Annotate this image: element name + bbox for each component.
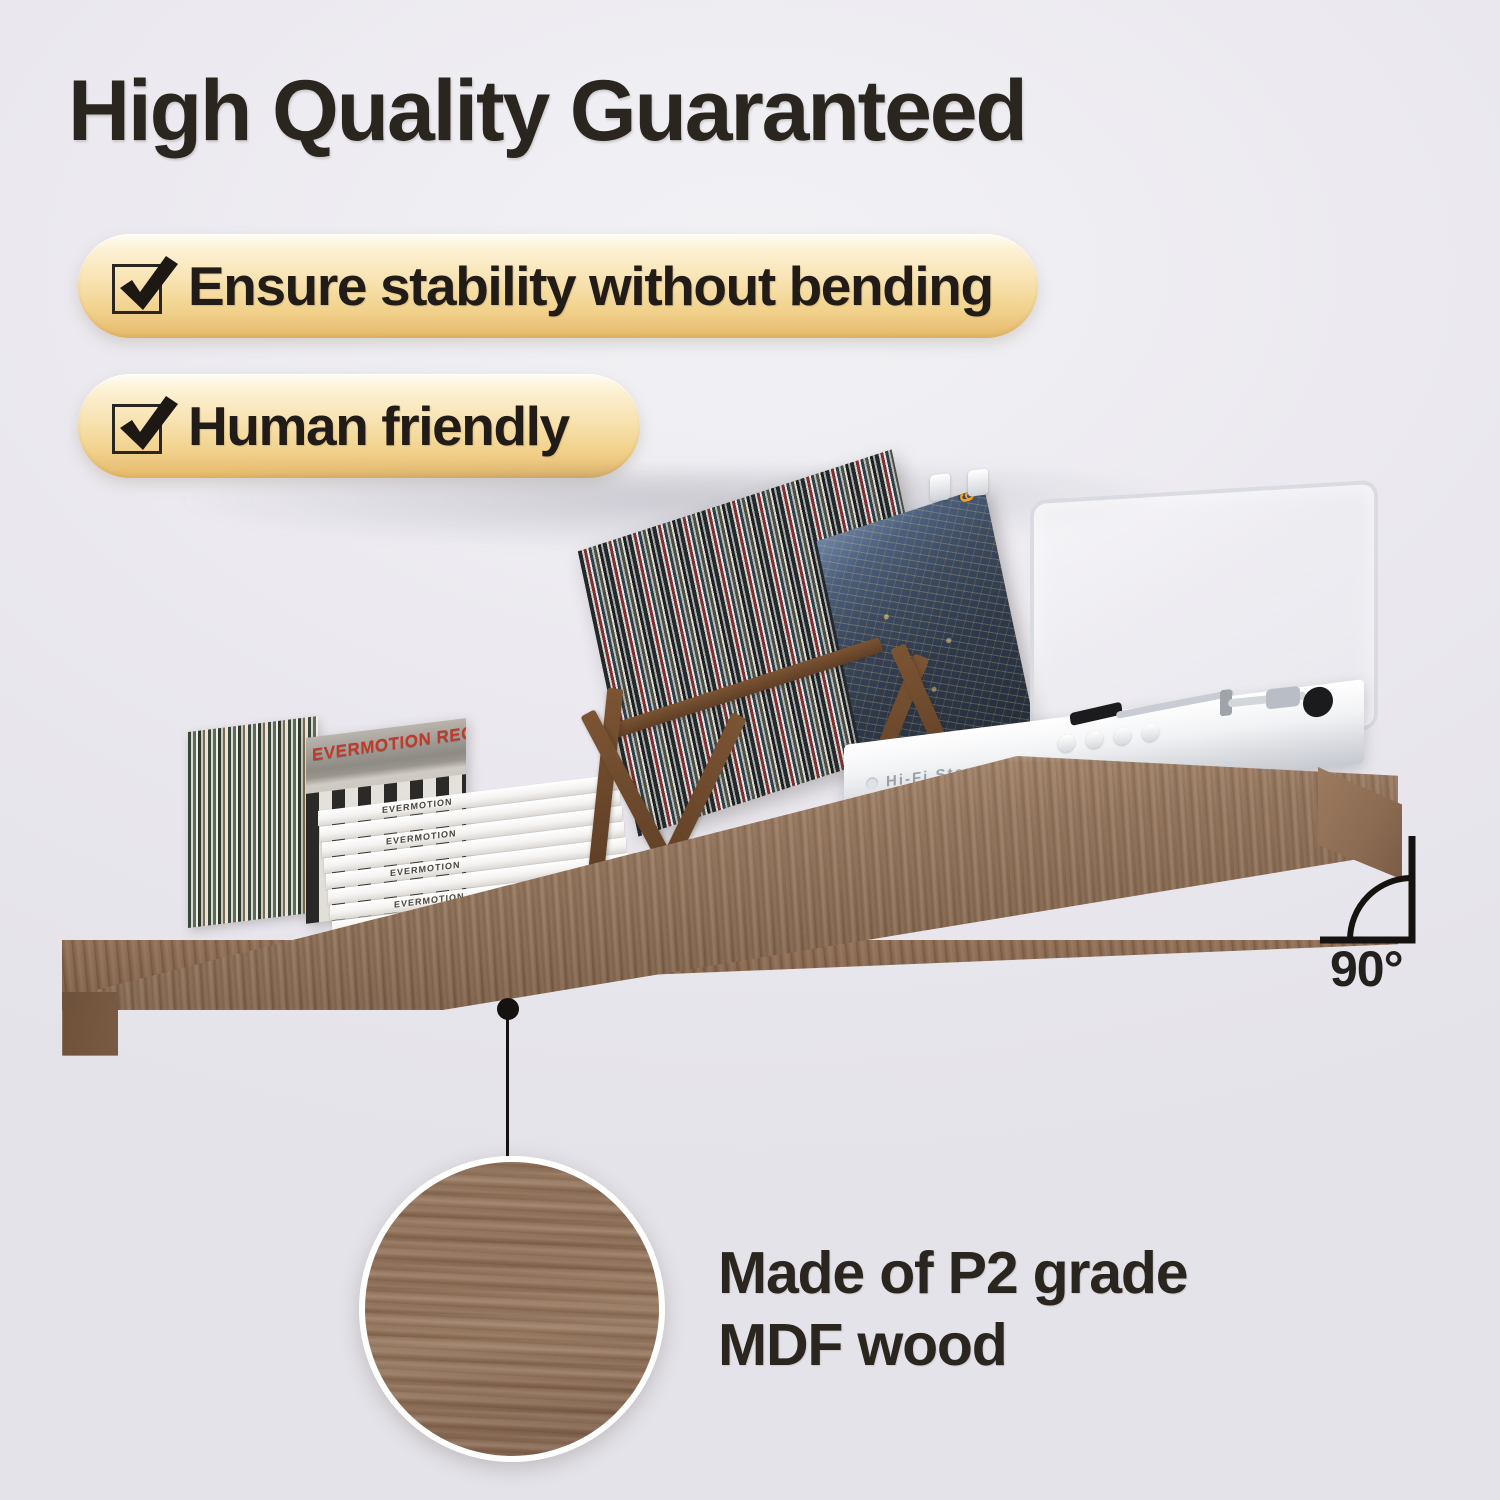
feature-badge-label: Human friendly	[188, 399, 569, 454]
page-title: High Quality Guaranteed	[68, 62, 1026, 161]
wood-grain-zoom-circle	[359, 1156, 665, 1462]
feature-badge-human-friendly: Human friendly	[78, 374, 640, 478]
product-photo-scene: EVERMOTION RECORDS EVERMOTIONEVERMOTIONE…	[0, 470, 1500, 1150]
angle-value-label: 90°	[1330, 940, 1403, 998]
floating-wood-shelf	[0, 470, 1500, 1090]
feature-badge-label: Ensure stability without bending	[188, 259, 993, 314]
shelf-top-surface	[62, 756, 1398, 1010]
callout-text: Made of P2 grade MDF wood	[718, 1238, 1187, 1382]
callout-line-1: Made of P2 grade	[718, 1238, 1187, 1310]
callout-leader-line	[506, 1016, 509, 1164]
callout-line-2: MDF wood	[718, 1310, 1187, 1382]
checkbox-checked-icon	[110, 398, 166, 454]
shelf-left-end-cap	[56, 992, 118, 1098]
checkbox-checked-icon	[110, 258, 166, 314]
feature-badge-stability: Ensure stability without bending	[78, 234, 1038, 338]
right-angle-icon	[1320, 836, 1432, 954]
